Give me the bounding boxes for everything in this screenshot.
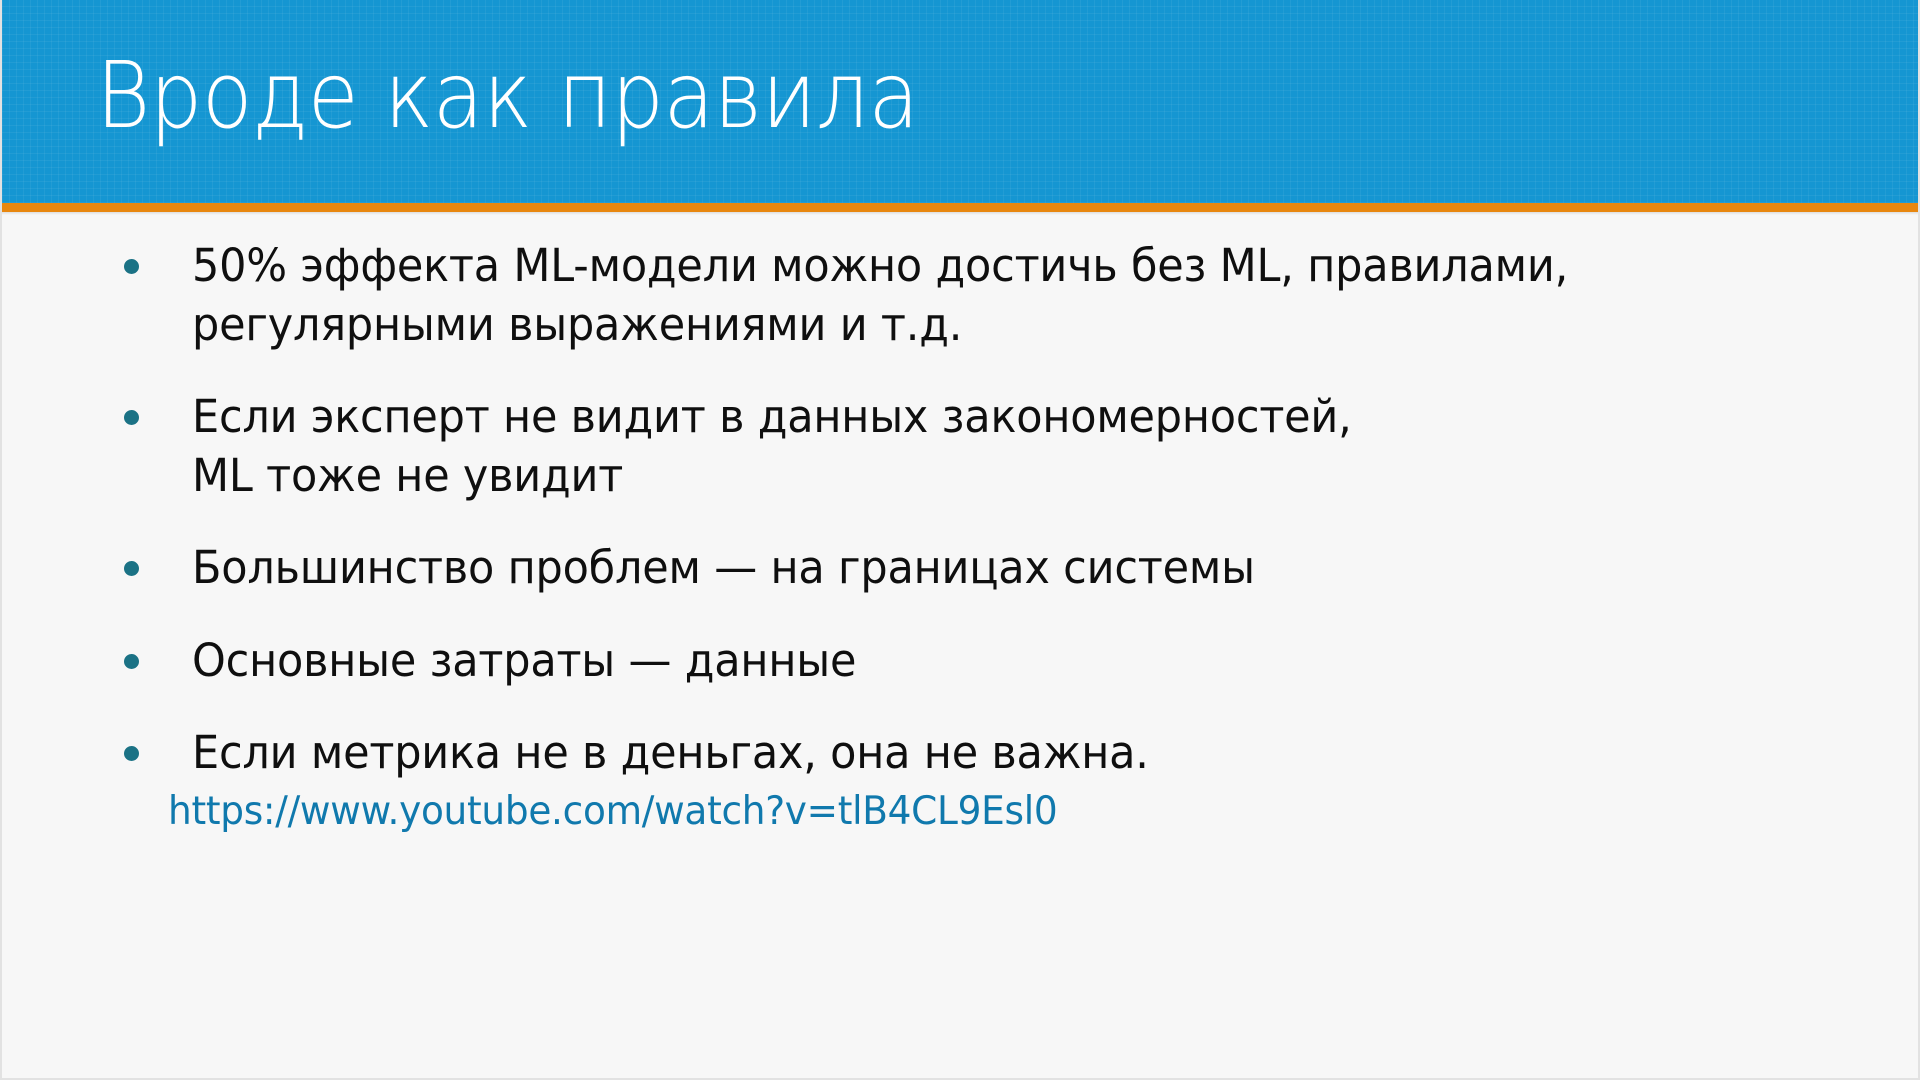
list-item: Если метрика не в деньгах, она не важна.… xyxy=(106,724,1866,837)
bullet-text: 50% эффекта ML-модели можно достичь без … xyxy=(192,237,1791,354)
slide-title: Вроде как правила xyxy=(96,46,919,145)
bullet-text: Если метрика не в деньгах, она не важна. xyxy=(192,724,1791,783)
bullet-text: Основные затраты — данные xyxy=(192,632,1791,691)
bullet-dot-icon xyxy=(124,561,139,576)
bullet-text: Если эксперт не видит в данных закономер… xyxy=(192,388,1791,505)
accent-divider-rule xyxy=(2,203,1920,212)
presentation-slide: Вроде как правила 50% эффекта ML-модели … xyxy=(0,0,1920,1080)
list-item: 50% эффекта ML-модели можно достичь без … xyxy=(106,237,1866,354)
bullet-dot-icon xyxy=(124,746,139,761)
list-item: Большинство проблем — на границах систем… xyxy=(106,539,1866,598)
bullet-dot-icon xyxy=(124,259,139,274)
bullet-dot-icon xyxy=(124,654,139,669)
list-item: Основные затраты — данные xyxy=(106,632,1866,691)
bullet-text: Большинство проблем — на границах систем… xyxy=(192,539,1791,598)
bullet-dot-icon xyxy=(124,410,139,425)
slide-body: 50% эффекта ML-модели можно достичь без … xyxy=(2,215,1920,1080)
youtube-link[interactable]: https://www.youtube.com/watch?v=tlB4CL9E… xyxy=(168,787,1798,838)
list-item: Если эксперт не видит в данных закономер… xyxy=(106,388,1866,505)
bullet-list: 50% эффекта ML-модели можно достичь без … xyxy=(106,237,1866,871)
slide-header-band: Вроде как правила xyxy=(2,0,1920,203)
